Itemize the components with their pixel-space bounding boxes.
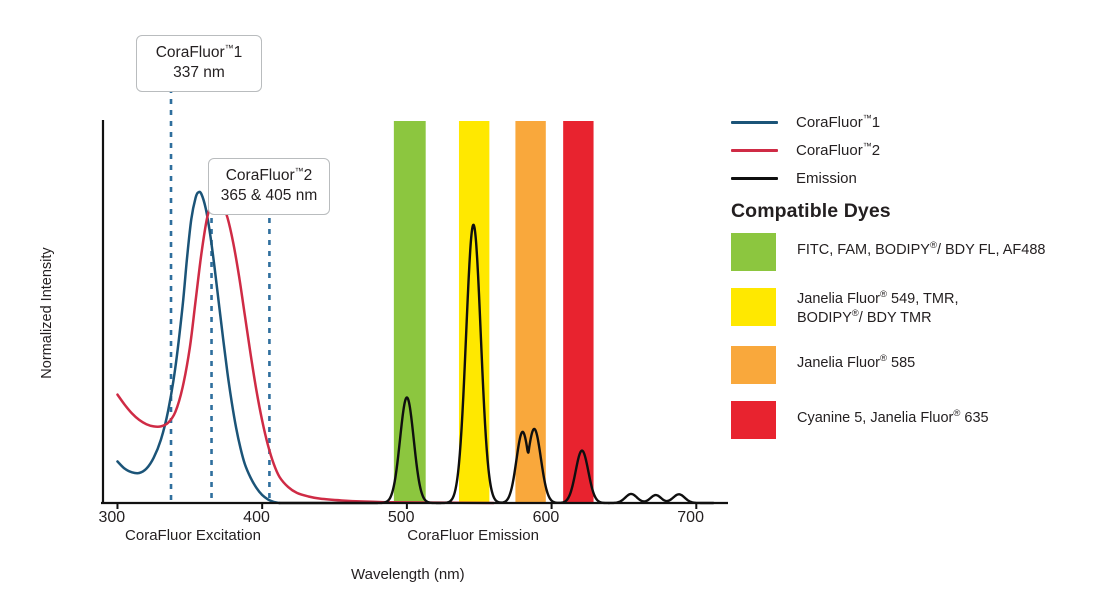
compatible-dyes-list: FITC, FAM, BODIPY®/ BDY FL, AF488Janelia… — [731, 233, 1091, 456]
emission-band-1 — [459, 121, 489, 503]
legend-item-2: Emission — [731, 164, 1031, 192]
dye-row-0: FITC, FAM, BODIPY®/ BDY FL, AF488 — [731, 233, 1091, 271]
legend-swatch-2 — [731, 177, 778, 180]
series-legend: CoraFluor™1CoraFluor™2Emission — [731, 108, 1031, 192]
excitation-curve-1 — [117, 192, 279, 503]
x-tick-label-600: 600 — [533, 509, 560, 527]
registered-symbol: ® — [953, 408, 960, 419]
dye-row-3: Cyanine 5, Janelia Fluor® 635 — [731, 401, 1091, 439]
x-tick-label-300: 300 — [98, 509, 125, 527]
dye-label-3: Cyanine 5, Janelia Fluor® 635 — [797, 401, 989, 428]
trademark-symbol: ™ — [863, 113, 872, 123]
excitation-curve-2 — [117, 197, 493, 503]
dye-swatch-2 — [731, 346, 776, 384]
callout-corafluor1-line1: CoraFluor™1 — [147, 43, 251, 63]
dye-swatch-3 — [731, 401, 776, 439]
x-tick-label-400: 400 — [243, 509, 270, 527]
trademark-symbol: ™ — [863, 141, 872, 151]
region-label-excitation: CoraFluor Excitation — [125, 527, 261, 544]
registered-symbol: ® — [930, 240, 937, 251]
legend-label-2: Emission — [796, 170, 857, 187]
legend-swatch-0 — [731, 121, 778, 124]
dye-row-2: Janelia Fluor® 585 — [731, 346, 1091, 384]
legend-swatch-1 — [731, 149, 778, 152]
callout-corafluor1-line2: 337 nm — [147, 63, 251, 83]
callout-corafluor2-line2: 365 & 405 nm — [219, 186, 319, 206]
dye-label-2: Janelia Fluor® 585 — [797, 346, 915, 373]
dye-row-1: Janelia Fluor® 549, TMR,BODIPY®/ BDY TMR — [731, 288, 1091, 329]
registered-symbol: ® — [880, 289, 887, 300]
region-label-emission: CoraFluor Emission — [407, 527, 539, 544]
legend-item-1: CoraFluor™2 — [731, 136, 1031, 164]
y-axis-title: Normalized Intensity — [39, 233, 55, 393]
registered-symbol: ® — [880, 353, 887, 364]
dye-label-1: Janelia Fluor® 549, TMR,BODIPY®/ BDY TMR — [797, 288, 958, 329]
dye-swatch-0 — [731, 233, 776, 271]
callout-corafluor2-line1: CoraFluor™2 — [219, 166, 319, 186]
legend-label-0: CoraFluor™1 — [796, 114, 880, 131]
emission-curve — [280, 225, 714, 503]
dye-label-line1-0: FITC, FAM, BODIPY®/ BDY FL, AF488 — [797, 241, 1045, 260]
dye-label-line1-3: Cyanine 5, Janelia Fluor® 635 — [797, 409, 989, 428]
callout-corafluor1: CoraFluor™1 337 nm — [136, 35, 262, 92]
registered-symbol: ® — [852, 308, 859, 319]
legend-item-0: CoraFluor™1 — [731, 108, 1031, 136]
dye-label-0: FITC, FAM, BODIPY®/ BDY FL, AF488 — [797, 233, 1045, 260]
compatible-dyes-heading: Compatible Dyes — [731, 200, 891, 223]
emission-band-3 — [563, 121, 593, 503]
fluorescence-spectra-chart: CoraFluor™1 337 nm CoraFluor™2 365 & 405… — [0, 0, 1110, 612]
x-axis-title: Wavelength (nm) — [351, 566, 465, 583]
dye-label-line2-1: BODIPY®/ BDY TMR — [797, 309, 958, 328]
dye-label-line1-1: Janelia Fluor® 549, TMR, — [797, 290, 958, 309]
x-tick-label-500: 500 — [388, 509, 415, 527]
callout-corafluor2: CoraFluor™2 365 & 405 nm — [208, 158, 330, 215]
dye-swatch-1 — [731, 288, 776, 326]
dye-label-line1-2: Janelia Fluor® 585 — [797, 354, 915, 373]
legend-label-1: CoraFluor™2 — [796, 142, 880, 159]
x-tick-label-700: 700 — [677, 509, 704, 527]
